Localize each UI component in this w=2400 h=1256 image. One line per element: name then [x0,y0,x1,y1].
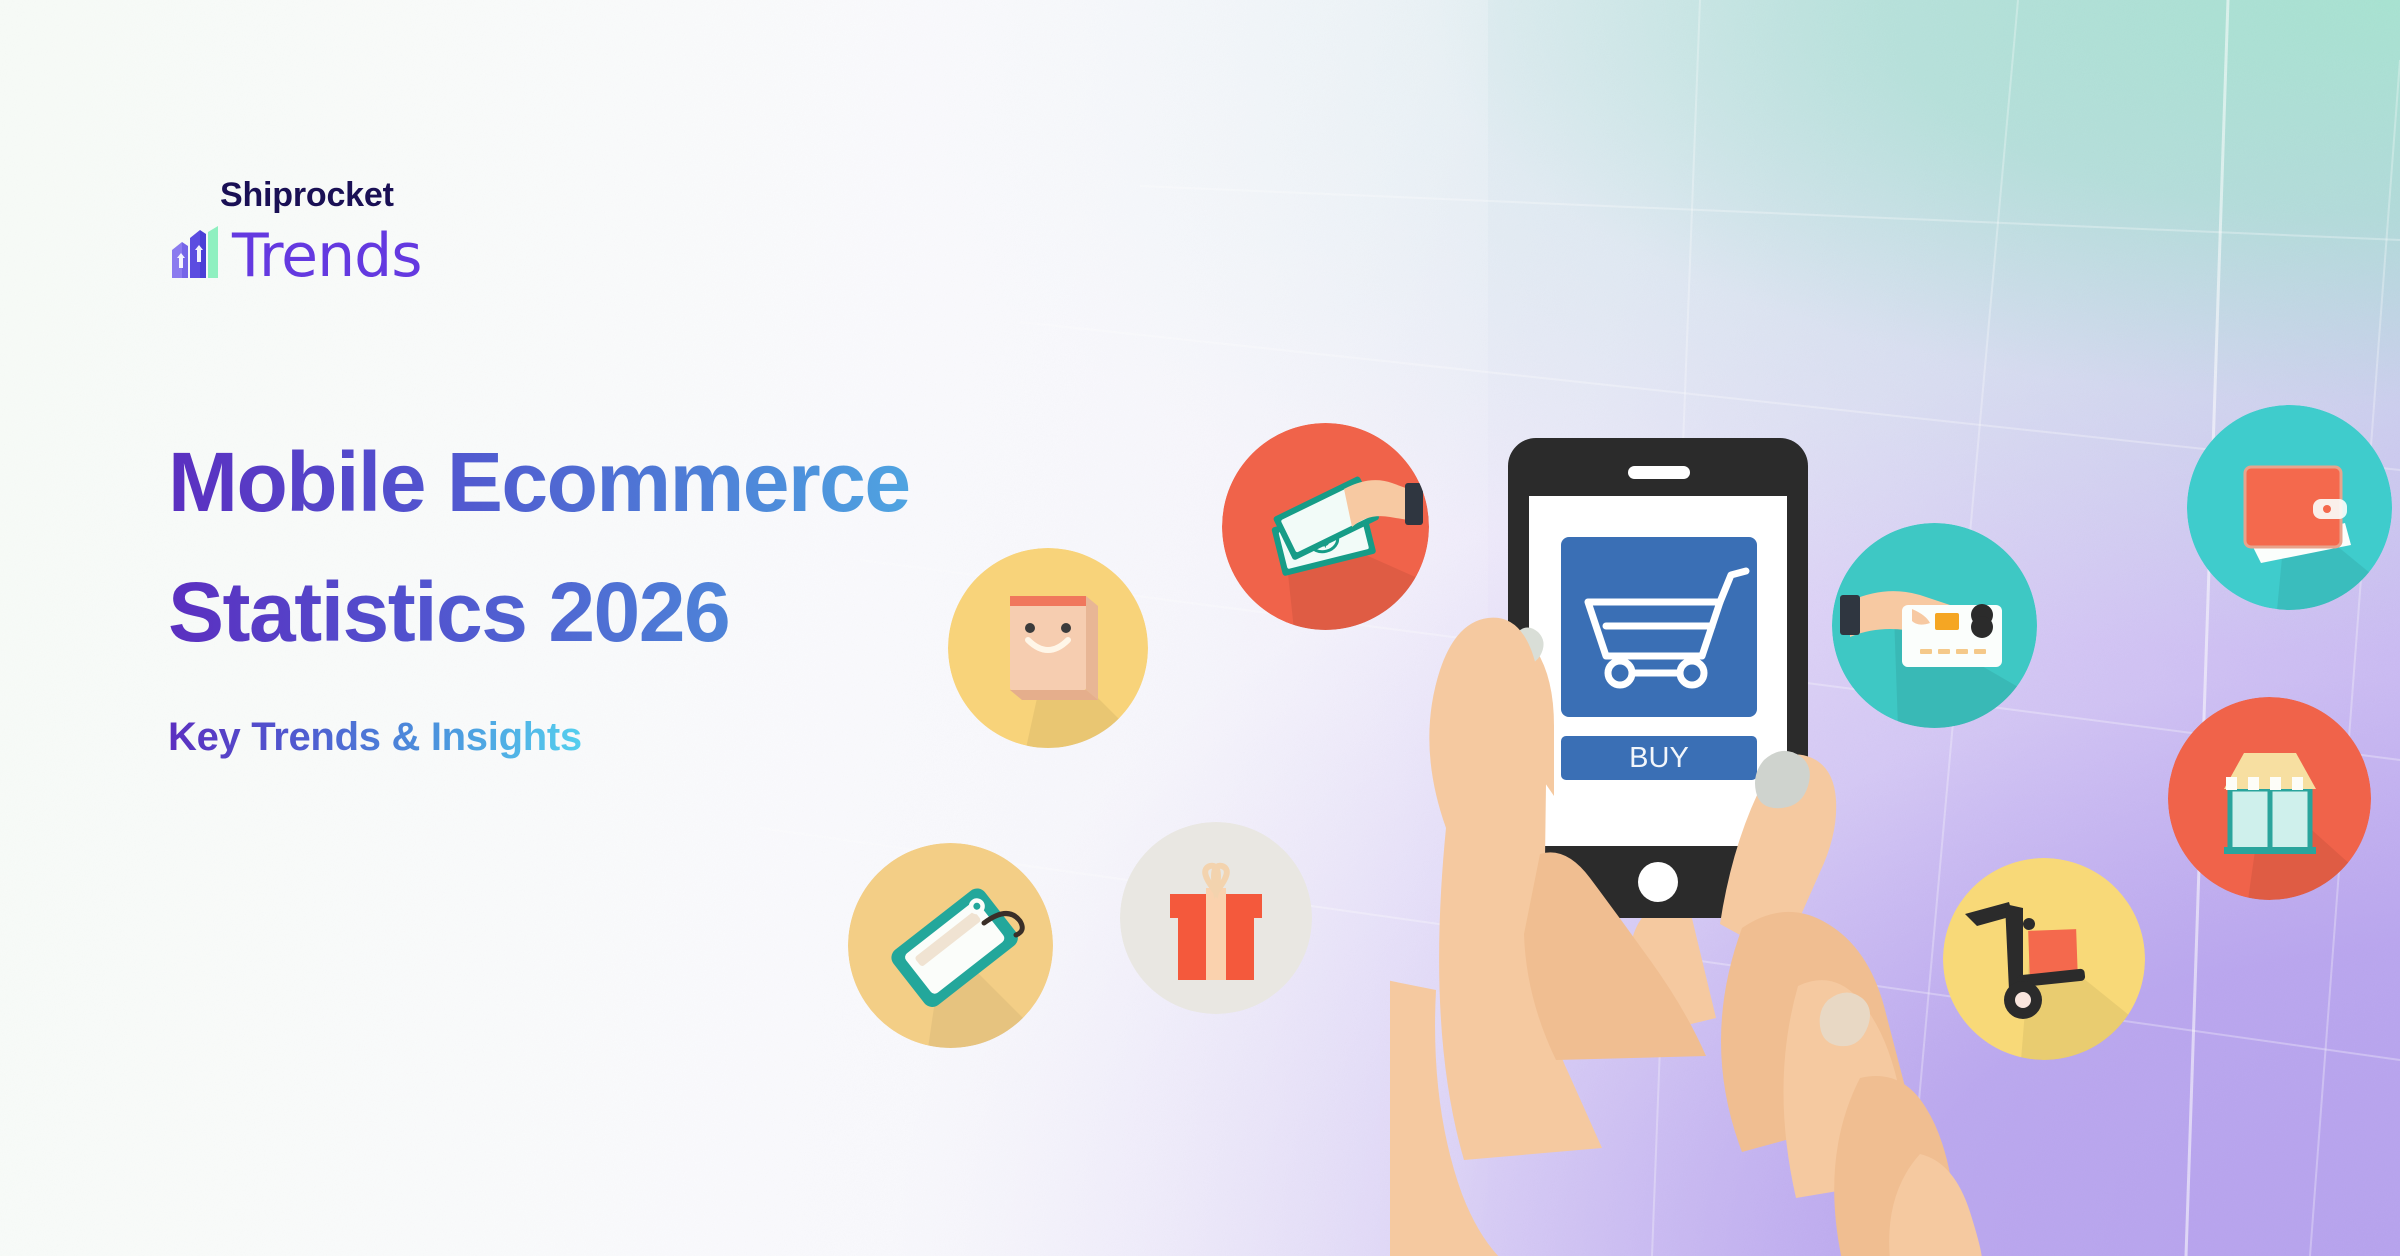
wallet-icon [2187,405,2392,610]
brand-wordmark: Shiprocket [220,178,421,212]
buy-button-label: BUY [1629,742,1689,774]
right-hand-pointing [1720,751,1982,1256]
headline-line-1: Mobile Ecommerce [168,440,1228,526]
gift-box-icon [1120,822,1312,1014]
home-button [1638,862,1678,902]
poster-canvas: Shiprocket Trends Mobile Ecommerce Stati… [0,0,2400,1256]
trends-bars-logo-icon [168,224,224,282]
earpiece-speaker [1628,466,1690,479]
storefront-icon [2168,697,2371,900]
brand-lockup[interactable]: Shiprocket Trends [168,178,421,284]
price-tag-icon [848,843,1053,1048]
page-subtitle: Key Trends & Insights [168,715,582,760]
shopping-bag-icon [948,548,1148,748]
phone-in-hands-illustration: BUY [1390,430,2110,1256]
brand-product-name: Trends [232,229,421,284]
